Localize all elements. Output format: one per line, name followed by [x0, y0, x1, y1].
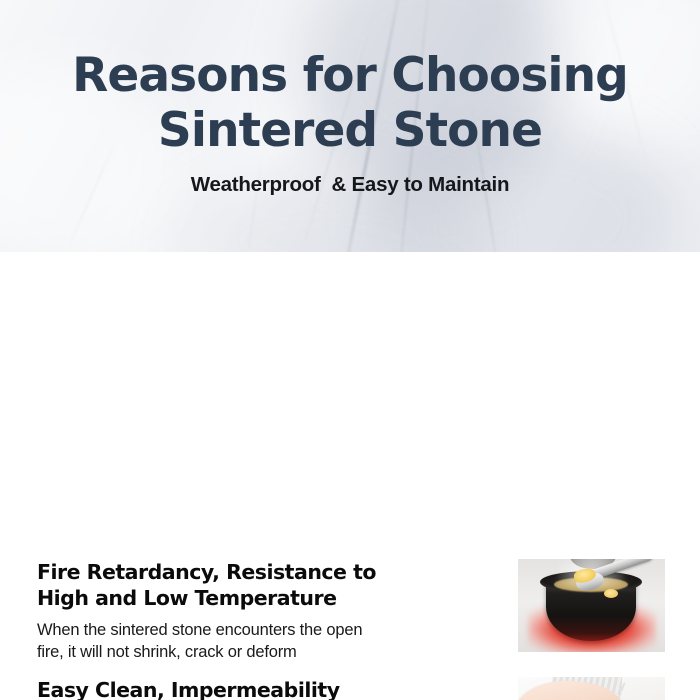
page-title-line-2: Sintered Stone [72, 103, 628, 158]
feature-description-line-2: fire, it will not shrink, crack or defor… [37, 643, 297, 661]
feature-title-line-1: Easy Clean, Impermeability [37, 678, 340, 700]
page-title: Reasons for Choosing Sintered Stone [72, 48, 628, 159]
feature-title: Fire Retardancy, Resistance to High and … [37, 559, 470, 611]
feature-item-easy-clean: Easy Clean, Impermeability whether it is… [0, 677, 700, 700]
feature-title-line-1: Fire Retardancy, Resistance to [37, 560, 376, 584]
feature-title: Easy Clean, Impermeability [37, 677, 470, 700]
feature-description-line-1: When the sintered stone encounters the o… [37, 621, 362, 639]
page-title-line-1: Reasons for Choosing [72, 48, 628, 103]
feature-text-block: Fire Retardancy, Resistance to High and … [0, 559, 470, 664]
poster-page: Reasons for Choosing Sintered Stone Weat… [0, 0, 700, 700]
header-content: Reasons for Choosing Sintered Stone Weat… [0, 0, 700, 252]
page-subtitle: Weatherproof & Easy to Maintain [191, 173, 510, 197]
food-piece [604, 589, 618, 598]
pot-on-stove-illustration [518, 559, 665, 652]
hand-wiping-surface-illustration [518, 677, 665, 700]
feature-image-fire-retardancy [518, 559, 665, 652]
feature-image-easy-clean [518, 677, 665, 700]
feature-item-fire-retardancy: Fire Retardancy, Resistance to High and … [0, 559, 700, 664]
header-banner: Reasons for Choosing Sintered Stone Weat… [0, 0, 700, 252]
feature-text-block: Easy Clean, Impermeability whether it is… [0, 677, 470, 700]
feature-title-line-2: High and Low Temperature [37, 586, 337, 610]
feature-description: When the sintered stone encounters the o… [37, 620, 470, 664]
